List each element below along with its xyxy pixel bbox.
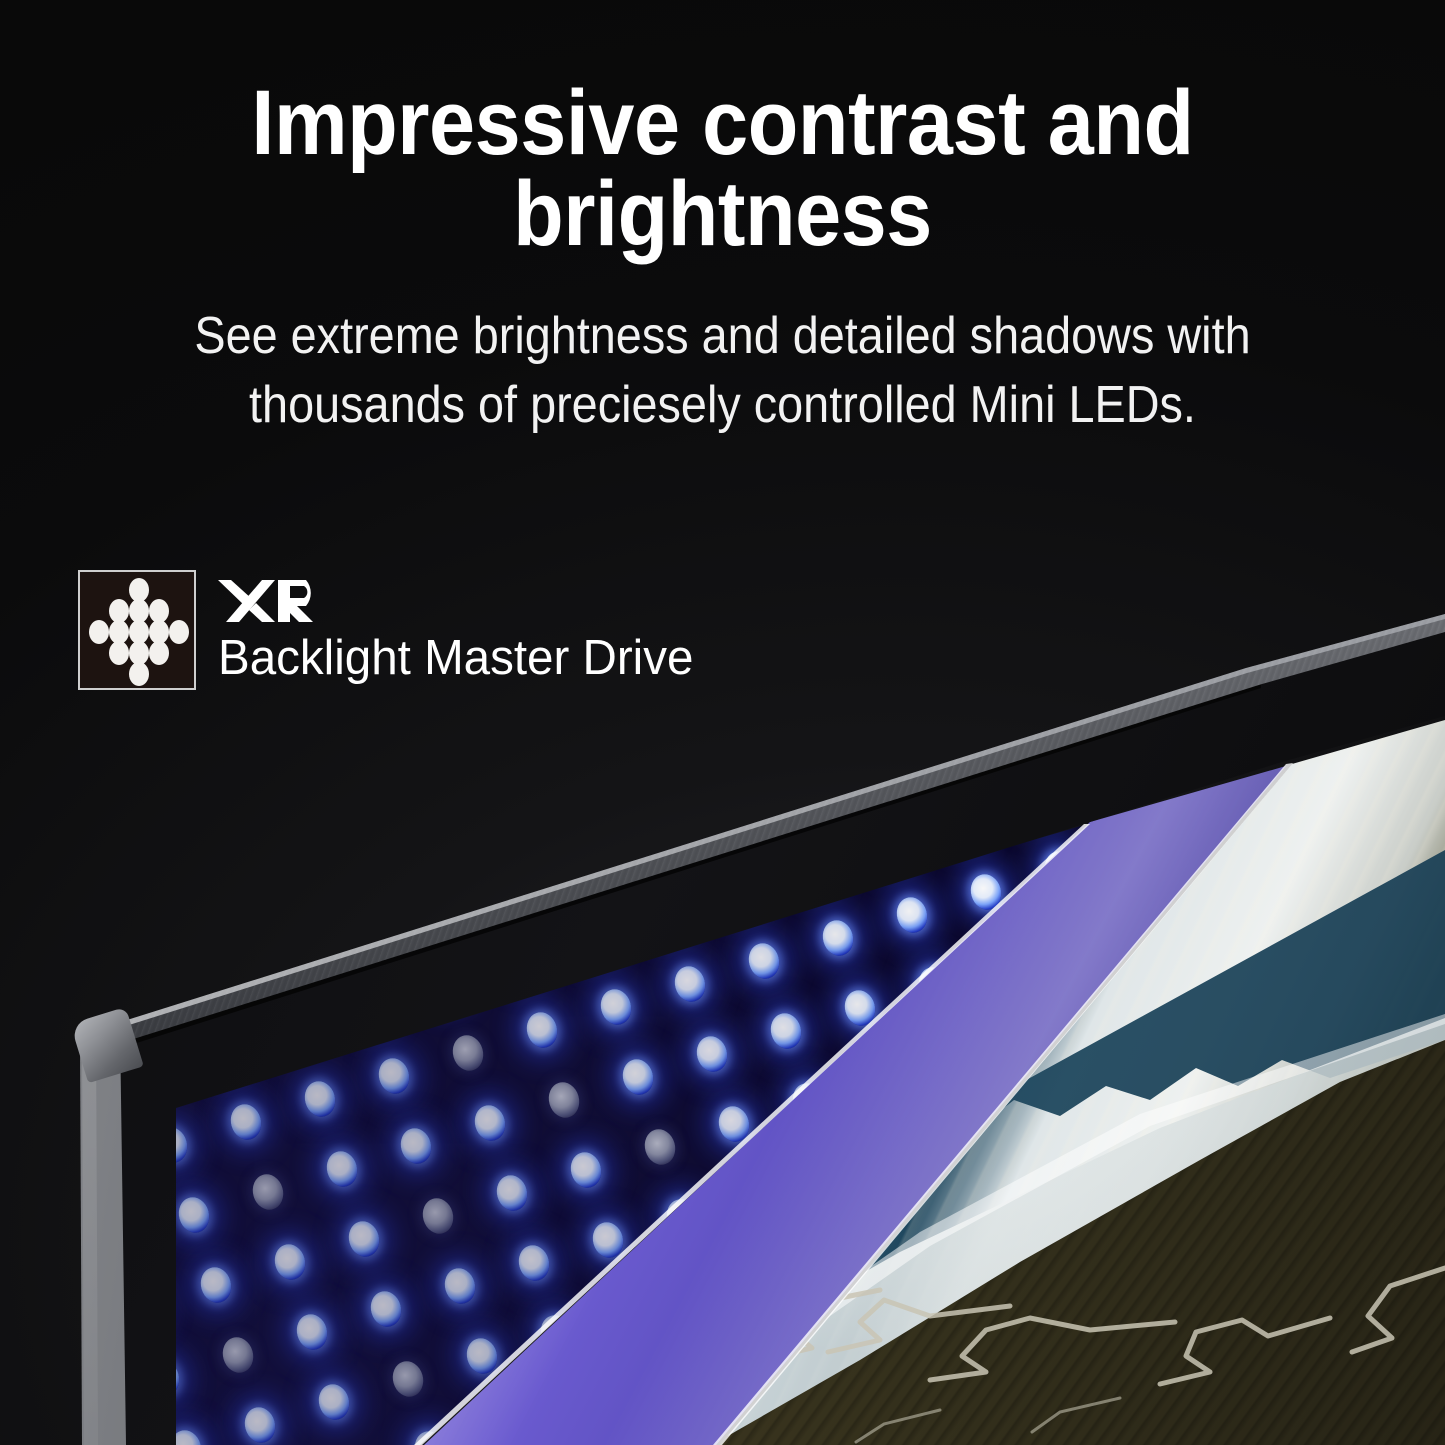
technology-badge: Backlight Master Drive xyxy=(78,570,708,690)
copy-block: Impressive contrast and brightness See e… xyxy=(0,0,1445,439)
page-subtitle: See extreme brightness and detailed shad… xyxy=(72,260,1373,439)
product-feature-panel: Impressive contrast and brightness See e… xyxy=(0,0,1445,1445)
page-title: Impressive contrast and brightness xyxy=(72,0,1373,260)
xr-diamond-dots-icon xyxy=(80,572,194,688)
technology-badge-text: Backlight Master Drive xyxy=(218,578,708,683)
xr-brand-wordmark xyxy=(218,578,708,628)
xr-logo-badge xyxy=(78,570,196,690)
technology-name: Backlight Master Drive xyxy=(218,634,693,683)
